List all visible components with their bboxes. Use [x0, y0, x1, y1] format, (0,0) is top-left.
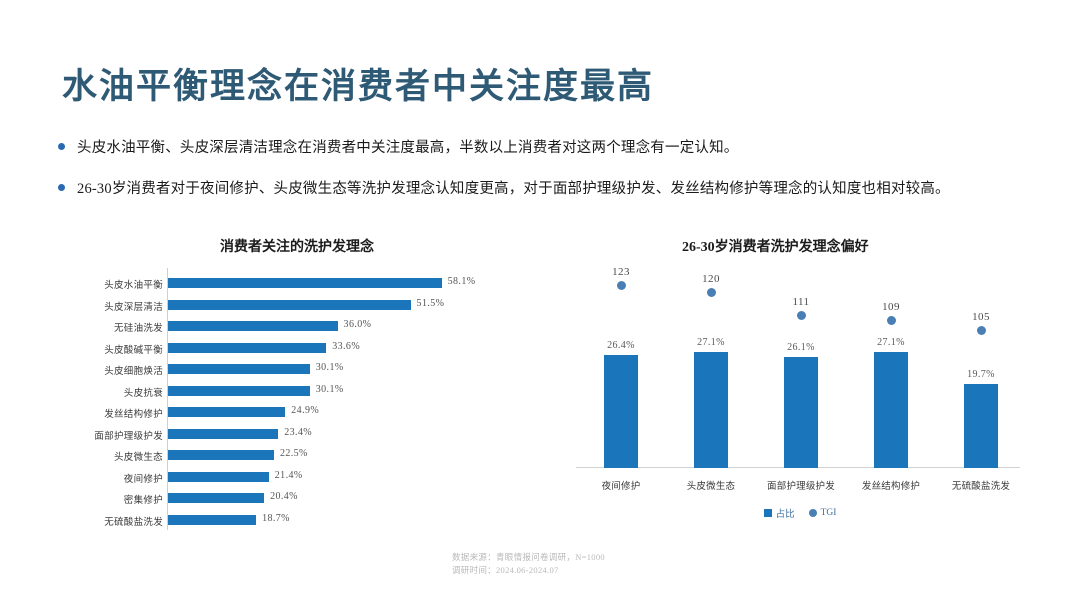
bar-fill: [168, 364, 310, 374]
legend-dot-icon: [809, 509, 817, 517]
legend-square-icon: [764, 509, 772, 517]
bar-value-label: 51.5%: [417, 298, 445, 309]
tgi-value-label: 105: [936, 311, 1026, 323]
bar-category-label: 头皮细胞焕活: [104, 363, 163, 377]
bar-fill: [168, 321, 338, 331]
source-footer: 数据来源：青眼情报问卷调研，N=1000 调研时间：2024.06-2024.0…: [452, 551, 605, 577]
bar-fill: [168, 515, 256, 525]
period-line: 调研时间：2024.06-2024.07: [452, 564, 605, 577]
bar-value-label: 36.0%: [344, 319, 372, 330]
bullet-dot-icon: [58, 143, 65, 150]
tgi-value-label: 111: [756, 296, 846, 308]
bar-fill: [168, 429, 278, 439]
column-chart: 26-30岁消费者洗护发理念偏好 占比 TGI 26.4%123夜间修护27.1…: [560, 236, 1040, 546]
bar-fill: [168, 278, 442, 288]
column-value-label: 27.1%: [666, 337, 756, 348]
bar-value-label: 21.4%: [275, 470, 303, 481]
column-group: 26.1%111面部护理级护发: [756, 268, 846, 468]
tgi-value-label: 120: [666, 273, 756, 285]
column-group: 27.1%120头皮微生态: [666, 268, 756, 468]
bar-row: 发丝结构修护24.9%: [60, 403, 520, 424]
bar-fill: [168, 407, 285, 417]
bullet-list: 头皮水油平衡、头皮深层清洁理念在消费者中关注度最高，半数以上消费者对这两个理念有…: [58, 136, 1043, 219]
column-plot-area: 占比 TGI 26.4%123夜间修护27.1%120头皮微生态26.1%111…: [560, 266, 1040, 536]
bar-value-label: 33.6%: [332, 341, 360, 352]
chart-title-left: 消费者关注的洗护发理念: [220, 236, 374, 256]
bar-category-label: 无硫酸盐洗发: [104, 514, 163, 528]
bar-category-label: 头皮抗衰: [124, 385, 163, 399]
bar-category-label: 发丝结构修护: [104, 406, 163, 420]
source-line: 数据来源：青眼情报问卷调研，N=1000: [452, 551, 605, 564]
legend-item-share: 占比: [764, 506, 795, 520]
bar-value-label: 30.1%: [316, 362, 344, 373]
bar-category-label: 头皮酸碱平衡: [104, 342, 163, 356]
bar-fill: [168, 343, 326, 353]
bar-fill: [168, 493, 264, 503]
bar-value-label: 22.5%: [280, 448, 308, 459]
column-group: 19.7%105无硫酸盐洗发: [936, 268, 1026, 468]
bar-row: 夜间修护21.4%: [60, 468, 520, 489]
column-value-label: 26.4%: [576, 340, 666, 351]
bar-fill: [168, 472, 269, 482]
x-axis-category-label: 无硫酸盐洗发: [931, 478, 1031, 492]
tgi-dot-marker: [617, 281, 626, 290]
column-value-label: 27.1%: [846, 337, 936, 348]
legend-label-tgi: TGI: [821, 508, 837, 518]
x-axis-category-label: 夜间修护: [571, 478, 671, 492]
tgi-value-label: 123: [576, 266, 666, 278]
bullet-text: 头皮水油平衡、头皮深层清洁理念在消费者中关注度最高，半数以上消费者对这两个理念有…: [77, 136, 739, 161]
x-axis-category-label: 发丝结构修护: [841, 478, 941, 492]
x-axis-category-label: 面部护理级护发: [751, 478, 851, 492]
column-group: 27.1%109发丝结构修护: [846, 268, 936, 468]
bar-category-label: 无硅油洗发: [114, 320, 163, 334]
bar-category-label: 头皮深层清洁: [104, 299, 163, 313]
bar-value-label: 20.4%: [270, 491, 298, 502]
column-bar: [874, 352, 908, 468]
page-title: 水油平衡理念在消费者中关注度最高: [62, 58, 654, 109]
x-axis-category-label: 头皮微生态: [661, 478, 761, 492]
chart-title-right: 26-30岁消费者洗护发理念偏好: [682, 236, 869, 256]
horizontal-bar-plot-area: 头皮水油平衡58.1%头皮深层清洁51.5%无硅油洗发36.0%头皮酸碱平衡33…: [60, 268, 520, 534]
horizontal-bar-chart: 消费者关注的洗护发理念 头皮水油平衡58.1%头皮深层清洁51.5%无硅油洗发3…: [60, 236, 520, 546]
column-value-label: 19.7%: [936, 369, 1026, 380]
bullet-item: 26-30岁消费者对于夜间修护、头皮微生态等洗护发理念认知度更高，对于面部护理级…: [58, 177, 1043, 202]
tgi-dot-marker: [797, 311, 806, 320]
bar-category-label: 夜间修护: [124, 471, 163, 485]
bar-row: 头皮水油平衡58.1%: [60, 274, 520, 295]
bar-value-label: 23.4%: [284, 427, 312, 438]
tgi-value-label: 109: [846, 301, 936, 313]
bar-value-label: 18.7%: [262, 513, 290, 524]
bar-row: 无硅油洗发36.0%: [60, 317, 520, 338]
bullet-text: 26-30岁消费者对于夜间修护、头皮微生态等洗护发理念认知度更高，对于面部护理级…: [77, 177, 950, 202]
bar-value-label: 24.9%: [291, 405, 319, 416]
bar-row: 无硫酸盐洗发18.7%: [60, 511, 520, 532]
tgi-dot-marker: [887, 316, 896, 325]
column-bar: [694, 352, 728, 468]
column-value-label: 26.1%: [756, 342, 846, 353]
bar-category-label: 头皮微生态: [114, 449, 163, 463]
bar-category-label: 头皮水油平衡: [104, 277, 163, 291]
bar-row: 头皮细胞焕活30.1%: [60, 360, 520, 381]
bullet-dot-icon: [58, 184, 65, 191]
bar-row: 头皮微生态22.5%: [60, 446, 520, 467]
bullet-item: 头皮水油平衡、头皮深层清洁理念在消费者中关注度最高，半数以上消费者对这两个理念有…: [58, 136, 1043, 161]
bar-fill: [168, 386, 310, 396]
column-bar: [784, 357, 818, 468]
bar-row: 头皮抗衰30.1%: [60, 382, 520, 403]
bar-row: 密集修护20.4%: [60, 489, 520, 510]
bar-row: 头皮深层清洁51.5%: [60, 296, 520, 317]
column-group: 26.4%123夜间修护: [576, 268, 666, 468]
bar-row: 面部护理级护发23.4%: [60, 425, 520, 446]
bar-value-label: 58.1%: [448, 276, 476, 287]
bar-category-label: 密集修护: [124, 492, 163, 506]
bar-fill: [168, 300, 411, 310]
slide-canvas: 水油平衡理念在消费者中关注度最高 头皮水油平衡、头皮深层清洁理念在消费者中关注度…: [0, 0, 1080, 607]
bar-row: 头皮酸碱平衡33.6%: [60, 339, 520, 360]
bar-fill: [168, 450, 274, 460]
bar-value-label: 30.1%: [316, 384, 344, 395]
bar-category-label: 面部护理级护发: [94, 428, 163, 442]
legend-label-share: 占比: [776, 506, 795, 520]
tgi-dot-marker: [707, 288, 716, 297]
tgi-dot-marker: [977, 326, 986, 335]
column-bar: [604, 355, 638, 468]
chart-legend: 占比 TGI: [560, 506, 1040, 520]
legend-item-tgi: TGI: [809, 508, 837, 518]
column-bar: [964, 384, 998, 468]
